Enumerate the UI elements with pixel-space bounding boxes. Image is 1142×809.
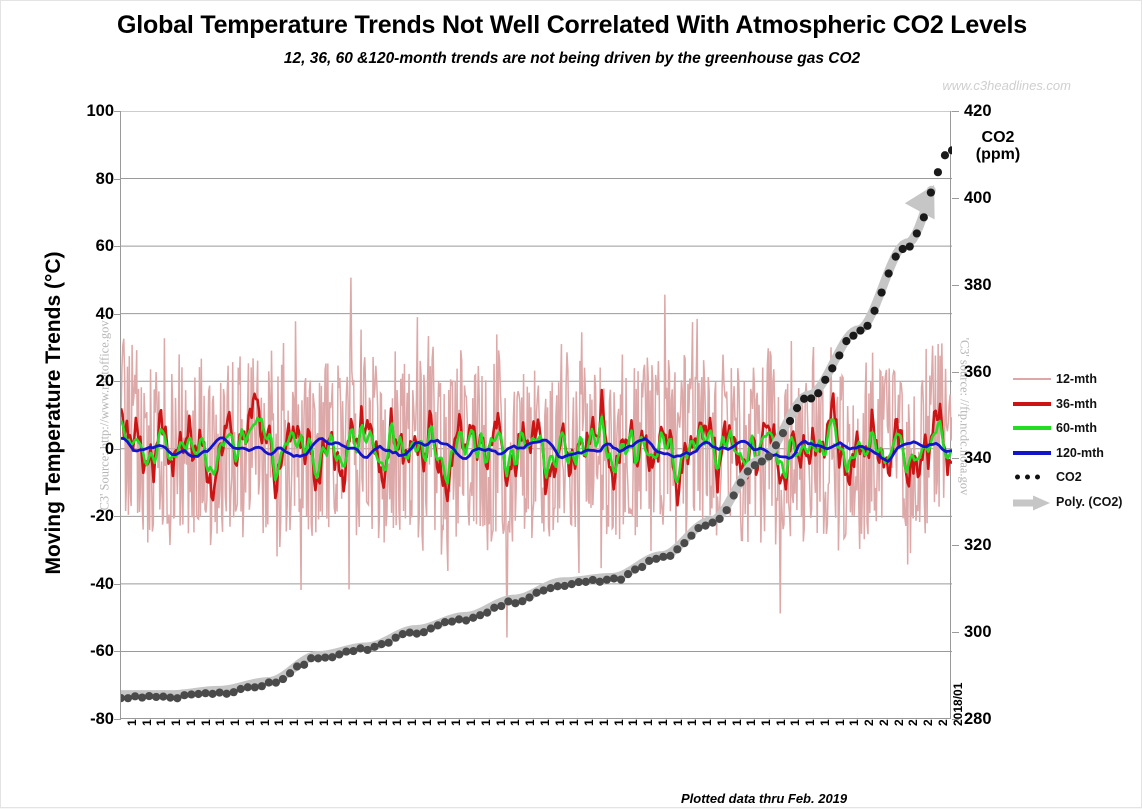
y2-tick-mark <box>952 285 959 286</box>
legend-line-icon <box>1013 402 1051 406</box>
co2-data-point <box>539 586 547 594</box>
co2-data-point <box>399 630 407 638</box>
co2-data-point <box>349 647 357 655</box>
co2-data-point <box>321 653 329 661</box>
co2-data-point <box>694 524 702 532</box>
co2-data-point <box>730 491 738 499</box>
y2-tick-label: 360 <box>964 366 1020 378</box>
co2-data-point <box>814 389 822 397</box>
co2-data-point <box>772 441 780 449</box>
co2-data-point <box>737 479 745 487</box>
co2-data-point <box>835 351 843 359</box>
co2-data-point <box>899 245 907 253</box>
co2-data-point <box>138 693 146 701</box>
chart-legend: 12-mth36-mth60-mth120-mthCO2Poly. (CO2) <box>1013 367 1142 514</box>
co2-data-point <box>448 617 456 625</box>
y-tick-label: -60 <box>58 645 114 657</box>
co2-data-point <box>511 599 519 607</box>
y2-tick-mark <box>952 632 959 633</box>
chart-canvas <box>121 111 952 719</box>
legend-line-icon <box>1013 426 1051 430</box>
y2-tick-label: 400 <box>964 192 1020 204</box>
legend-label: 12-mth <box>1056 372 1097 386</box>
co2-data-point <box>180 691 188 699</box>
legend-label: 60-mth <box>1056 421 1097 435</box>
y-tick-label: 100 <box>58 105 114 117</box>
plot-area: Plotted data thru Feb. 2019 <box>120 111 951 719</box>
co2-data-point <box>194 690 202 698</box>
co2-data-point <box>223 690 231 698</box>
co2-data-point <box>863 322 871 330</box>
co2-data-point <box>568 580 576 588</box>
co2-data-point <box>589 576 597 584</box>
co2-data-point <box>765 452 773 460</box>
co2-data-point <box>856 326 864 334</box>
co2-data-point <box>462 616 470 624</box>
y2-tick-mark <box>952 545 959 546</box>
co2-data-point <box>434 621 442 629</box>
co2-data-point <box>708 519 716 527</box>
co2-data-point <box>504 597 512 605</box>
y2-tick-label: 420 <box>964 105 1020 117</box>
legend-item-12-mth[interactable]: 12-mth <box>1013 367 1142 392</box>
co2-data-point <box>406 628 414 636</box>
co2-data-point <box>870 307 878 315</box>
co2-data-point <box>828 364 836 372</box>
co2-data-point <box>363 646 371 654</box>
co2-data-point <box>244 683 252 691</box>
legend-item-60-mth[interactable]: 60-mth <box>1013 416 1142 441</box>
legend-swatch <box>1013 397 1051 411</box>
legend-item-36-mth[interactable]: 36-mth <box>1013 392 1142 417</box>
y-tick-label: -20 <box>58 510 114 522</box>
plotted-data-note: Plotted data thru Feb. 2019 <box>681 791 847 806</box>
co2-data-point <box>800 395 808 403</box>
co2-data-point <box>427 624 435 632</box>
co2-data-point <box>385 639 393 647</box>
co2-data-point <box>779 429 787 437</box>
co2-data-point <box>934 168 942 176</box>
co2-data-point <box>532 589 540 597</box>
co2-data-point <box>483 609 491 617</box>
co2-data-point <box>638 563 646 571</box>
y2-tick-label: 380 <box>964 279 1020 291</box>
y-tick-label: 0 <box>58 443 114 455</box>
y-tick-label: -40 <box>58 578 114 590</box>
co2-data-point <box>687 532 695 540</box>
y2-tick-mark <box>952 198 959 199</box>
co2-data-point <box>906 242 914 250</box>
co2-data-point <box>272 679 280 687</box>
co2-data-point <box>554 582 562 590</box>
co2-data-point <box>821 376 829 384</box>
co2-data-point <box>617 575 625 583</box>
co2-data-point <box>885 269 893 277</box>
co2-data-point <box>807 394 815 402</box>
co2-data-point <box>335 650 343 658</box>
co2-data-point <box>279 675 287 683</box>
legend-item-120-mth[interactable]: 120-mth <box>1013 441 1142 466</box>
legend-swatch <box>1013 421 1051 435</box>
legend-line-icon <box>1013 378 1051 380</box>
co2-data-point <box>701 521 709 529</box>
co2-data-point <box>723 506 731 514</box>
co2-data-point <box>927 188 935 196</box>
co2-data-point <box>575 578 583 586</box>
co2-data-point <box>173 694 181 702</box>
y2-tick-label: 300 <box>964 626 1020 638</box>
legend-swatch <box>1013 372 1051 386</box>
y-tick-label: 80 <box>58 173 114 185</box>
co2-data-point <box>652 555 660 563</box>
legend-swatch <box>1013 446 1051 460</box>
co2-data-point <box>561 582 569 590</box>
legend-label: 36-mth <box>1056 397 1097 411</box>
y2-tick-label: 340 <box>964 452 1020 464</box>
y2-tick-label: 320 <box>964 539 1020 551</box>
co2-data-point <box>159 693 167 701</box>
co2-data-point <box>187 690 195 698</box>
co2-data-point <box>314 654 322 662</box>
co2-data-point <box>145 692 153 700</box>
legend-swatch <box>1013 495 1051 509</box>
co2-data-point <box>328 653 336 661</box>
co2-data-point <box>666 552 674 560</box>
legend-swatch <box>1013 470 1051 484</box>
co2-data-point <box>877 288 885 296</box>
chart-frame: Global Temperature Trends Not Well Corre… <box>0 0 1142 808</box>
legend-item-co2[interactable]: CO2 <box>1013 465 1142 490</box>
co2-data-point <box>673 545 681 553</box>
legend-dots-icon <box>1015 475 1040 480</box>
x-tick-label: 2018/01 <box>951 683 965 726</box>
co2-data-point <box>744 467 752 475</box>
co2-data-point <box>659 553 667 561</box>
co2-data-point <box>624 570 632 578</box>
co2-data-point <box>230 688 238 696</box>
co2-data-point <box>201 689 209 697</box>
co2-data-point <box>377 640 385 648</box>
co2-data-point <box>849 332 857 340</box>
co2-data-point <box>293 662 301 670</box>
co2-data-point <box>476 611 484 619</box>
legend-arrow-icon <box>1013 495 1051 511</box>
co2-data-point <box>300 661 308 669</box>
co2-data-point <box>286 669 294 677</box>
co2-data-point <box>518 597 526 605</box>
y-tick-label: 20 <box>58 375 114 387</box>
co2-data-point <box>258 682 266 690</box>
co2-data-point <box>525 593 533 601</box>
co2-data-point <box>356 644 364 652</box>
co2-data-point <box>941 151 949 159</box>
legend-label: Poly. (CO2) <box>1056 495 1122 509</box>
co2-data-point <box>208 690 216 698</box>
co2-data-point <box>546 584 554 592</box>
co2-data-point <box>152 693 160 701</box>
co2-data-point <box>370 643 378 651</box>
co2-data-point <box>631 565 639 573</box>
co2-data-point <box>645 557 653 565</box>
co2-data-point <box>610 574 618 582</box>
co2-data-point <box>237 685 245 693</box>
co2-data-point <box>392 634 400 642</box>
co2-data-point <box>913 229 921 237</box>
co2-data-point <box>469 614 477 622</box>
legend-item-poly-co2[interactable]: Poly. (CO2) <box>1013 490 1142 515</box>
co2-data-point <box>307 654 315 662</box>
co2-data-point <box>892 253 900 261</box>
co2-data-point <box>716 515 724 523</box>
y2-tick-mark <box>952 111 959 112</box>
y2-tick-mark <box>952 372 959 373</box>
co2-data-point <box>582 578 590 586</box>
co2-data-point <box>413 630 421 638</box>
co2-data-point <box>490 604 498 612</box>
co2-data-point <box>786 417 794 425</box>
co2-data-point <box>131 692 139 700</box>
x-axis-labels: 1850/011853/011856/011859/011862/011865/… <box>1 724 1142 809</box>
y-tick-mark <box>114 719 121 720</box>
co2-data-point <box>455 615 463 623</box>
y-tick-label: 60 <box>58 240 114 252</box>
co2-data-point <box>751 461 759 469</box>
co2-data-point <box>596 578 604 586</box>
co2-data-point <box>603 576 611 584</box>
co2-data-point <box>497 602 505 610</box>
y2-tick-mark <box>952 458 959 459</box>
y-axis-left-labels: -80-60-40-20020406080100 <box>52 1 114 809</box>
co2-data-point <box>441 618 449 626</box>
y-tick-label: 40 <box>58 308 114 320</box>
co2-data-point <box>124 694 132 702</box>
co2-data-point <box>793 404 801 412</box>
co2-data-point <box>251 683 259 691</box>
co2-data-point <box>265 678 273 686</box>
co2-data-point <box>342 647 350 655</box>
co2-data-point <box>166 693 174 701</box>
legend-label: 120-mth <box>1056 446 1104 460</box>
co2-data-point <box>842 337 850 345</box>
legend-label: CO2 <box>1056 470 1082 484</box>
watermark: www.c3headlines.com <box>1 78 1071 93</box>
co2-data-point <box>758 457 766 465</box>
co2-data-point <box>920 213 928 221</box>
legend-line-icon <box>1013 451 1051 455</box>
co2-data-point <box>215 688 223 696</box>
co2-data-point <box>420 628 428 636</box>
co2-data-point <box>680 539 688 547</box>
